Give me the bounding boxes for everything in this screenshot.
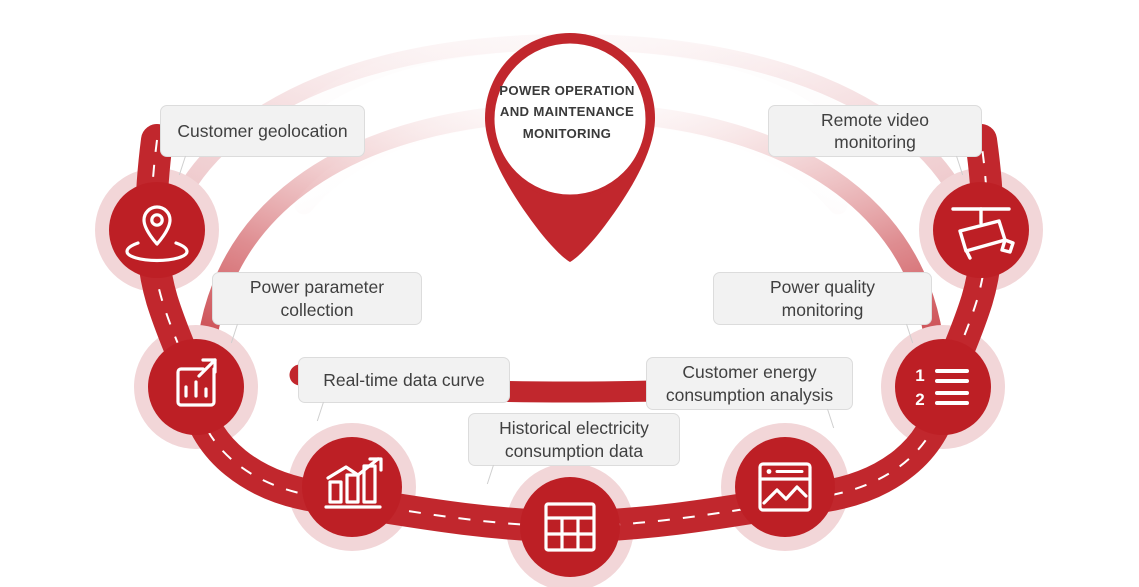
node-real-time-data-curve[interactable] xyxy=(302,437,402,537)
node-power-quality-monitoring[interactable]: 1 2 xyxy=(895,339,991,435)
infographic-canvas: 1 2 xyxy=(0,0,1139,587)
svg-text:2: 2 xyxy=(915,390,924,409)
node-customer-energy-consumption-analysis[interactable] xyxy=(735,437,835,537)
center-pin xyxy=(485,33,655,262)
label-text: Customer geolocation xyxy=(177,120,347,142)
node-historical-electricity-consumption-data[interactable] xyxy=(520,477,620,577)
center-pin-title: POWER OPERATION AND MAINTENANCE MONITORI… xyxy=(489,80,645,144)
node-remote-video-monitoring[interactable] xyxy=(933,182,1029,278)
label-text: Remote video monitoring xyxy=(783,109,967,154)
label-text: Real-time data curve xyxy=(323,369,484,391)
label-customer-energy-consumption-analysis[interactable]: Customer energy consumption analysis xyxy=(646,357,853,410)
label-power-quality-monitoring[interactable]: Power quality monitoring xyxy=(713,272,932,325)
label-historical-electricity-consumption-data[interactable]: Historical electricity consumption data xyxy=(468,413,680,466)
label-text: Power quality monitoring xyxy=(728,276,917,321)
label-text: Power parameter collection xyxy=(250,276,384,321)
label-remote-video-monitoring[interactable]: Remote video monitoring xyxy=(768,105,982,157)
node-customer-geolocation[interactable] xyxy=(109,182,205,278)
label-real-time-data-curve[interactable]: Real-time data curve xyxy=(298,357,510,403)
node-power-parameter-collection[interactable] xyxy=(148,339,244,435)
svg-text:1: 1 xyxy=(915,366,924,385)
label-text: Customer energy consumption analysis xyxy=(666,361,833,406)
label-customer-geolocation[interactable]: Customer geolocation xyxy=(160,105,365,157)
label-text: Historical electricity consumption data xyxy=(499,417,649,462)
label-power-parameter-collection[interactable]: Power parameter collection xyxy=(212,272,422,325)
